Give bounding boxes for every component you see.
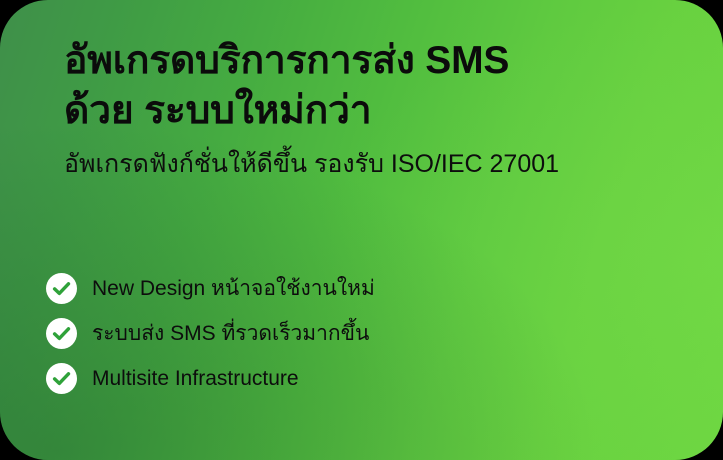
check-circle-icon	[46, 363, 77, 394]
feature-label: New Design หน้าจอใช้งานใหม่	[92, 275, 375, 303]
headline-line-1: อัพเกรดบริการการส่ง SMS	[64, 36, 671, 86]
card-content: อัพเกรดบริการการส่ง SMS ด้วย ระบบใหม่กว่…	[0, 0, 723, 460]
headline-line-2: ด้วย ระบบใหม่กว่า	[64, 86, 671, 136]
check-circle-icon	[46, 318, 77, 349]
list-item: ระบบส่ง SMS ที่รวดเร็วมากขึ้น	[46, 311, 646, 356]
feature-list: New Design หน้าจอใช้งานใหม่ ระบบส่ง SMS …	[46, 266, 646, 401]
list-item: Multisite Infrastructure	[46, 356, 646, 401]
page-title: อัพเกรดบริการการส่ง SMS ด้วย ระบบใหม่กว่…	[64, 36, 671, 136]
promo-card: อัพเกรดบริการการส่ง SMS ด้วย ระบบใหม่กว่…	[0, 0, 723, 460]
check-circle-icon	[46, 273, 77, 304]
feature-label: ระบบส่ง SMS ที่รวดเร็วมากขึ้น	[92, 320, 369, 348]
feature-label: Multisite Infrastructure	[92, 365, 299, 393]
subtitle: อัพเกรดฟังก์ชั่นให้ดีขึ้น รองรับ ISO/IEC…	[64, 148, 671, 180]
list-item: New Design หน้าจอใช้งานใหม่	[46, 266, 646, 311]
